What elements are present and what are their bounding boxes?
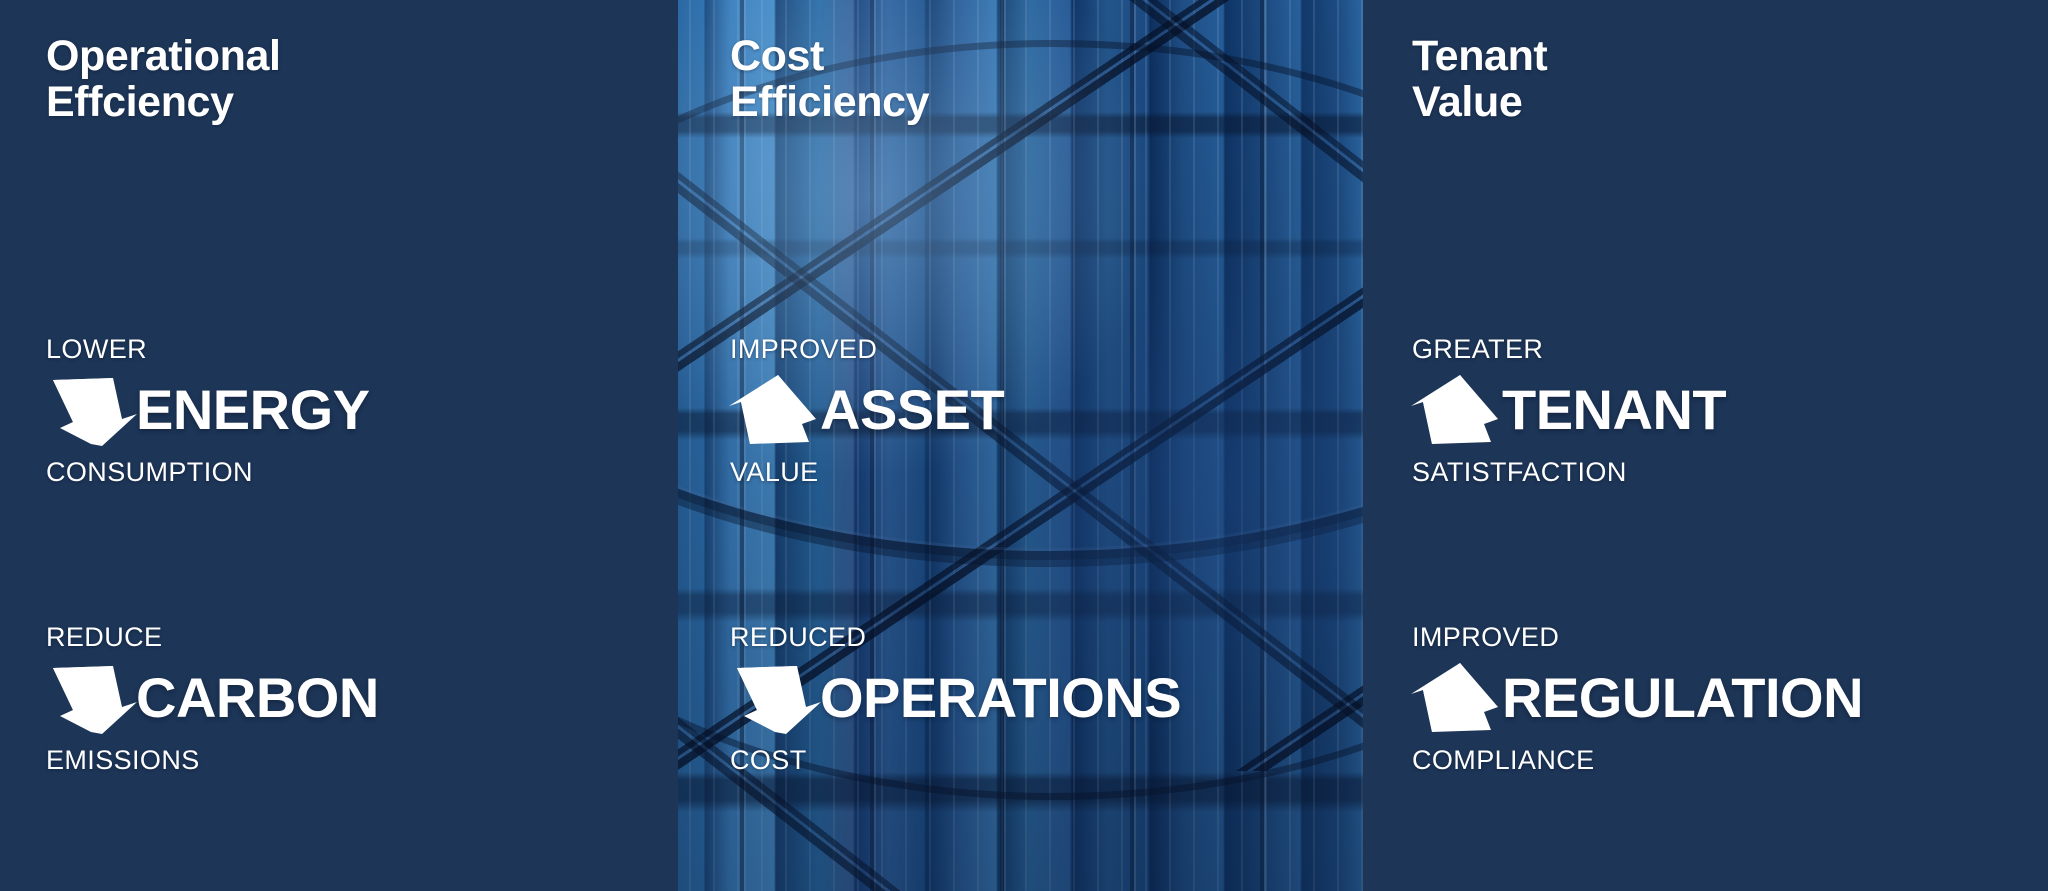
stat-block-tenant-satisfaction: GREATER TENANT SATISTFACTION [1412, 336, 1726, 486]
stat-suffix: COMPLIANCE [1412, 747, 1863, 774]
stat-suffix: VALUE [730, 459, 1004, 486]
stat-suffix: CONSUMPTION [46, 459, 370, 486]
stat-word: OPERATIONS [820, 670, 1181, 726]
stat-main-row: REGULATION [1410, 660, 1863, 736]
stat-block-energy: LOWER ENERGY CONSUMPTION [46, 336, 370, 486]
column-title-operational-efficiency: Operational Effciency [46, 34, 281, 125]
stat-suffix: COST [730, 747, 1181, 774]
stat-block-operations-cost: REDUCED OPERATIONS COST [730, 624, 1181, 774]
column-cost-efficiency: Cost Efficiency IMPROVED ASSET VALUE RED… [678, 0, 1363, 891]
stat-main-row: TENANT [1410, 372, 1726, 448]
down-arrow-icon [44, 372, 142, 448]
column-tenant-value: Tenant Value GREATER TENANT SATISTFACTIO… [1363, 0, 2048, 891]
stat-suffix: EMISSIONS [46, 747, 379, 774]
stat-prefix: LOWER [46, 336, 370, 363]
stat-block-regulation-compliance: IMPROVED REGULATION COMPLIANCE [1412, 624, 1863, 774]
stat-block-asset-value: IMPROVED ASSET VALUE [730, 336, 1004, 486]
column-operational-efficiency: Operational Effciency LOWER ENERGY CONSU… [0, 0, 678, 891]
stat-prefix: GREATER [1412, 336, 1726, 363]
stat-prefix: REDUCE [46, 624, 379, 651]
infographic-stage: Operational Effciency LOWER ENERGY CONSU… [0, 0, 2048, 891]
stat-prefix: IMPROVED [730, 336, 1004, 363]
down-arrow-icon [44, 660, 142, 736]
stat-suffix: SATISTFACTION [1412, 459, 1726, 486]
up-arrow-icon [728, 372, 826, 448]
stat-word: REGULATION [1502, 670, 1863, 726]
down-arrow-icon [728, 660, 826, 736]
stat-main-row: ENERGY [44, 372, 370, 448]
stat-word: TENANT [1502, 382, 1726, 438]
stat-word: ASSET [820, 382, 1004, 438]
stat-word: CARBON [136, 670, 379, 726]
column-title-cost-efficiency: Cost Efficiency [730, 34, 929, 125]
column-title-tenant-value: Tenant Value [1412, 34, 1547, 125]
stat-word: ENERGY [136, 382, 370, 438]
stat-main-row: OPERATIONS [728, 660, 1181, 736]
stat-prefix: IMPROVED [1412, 624, 1863, 651]
stat-main-row: ASSET [728, 372, 1004, 448]
stat-main-row: CARBON [44, 660, 379, 736]
stat-block-carbon: REDUCE CARBON EMISSIONS [46, 624, 379, 774]
up-arrow-icon [1410, 372, 1508, 448]
stat-prefix: REDUCED [730, 624, 1181, 651]
up-arrow-icon [1410, 660, 1508, 736]
